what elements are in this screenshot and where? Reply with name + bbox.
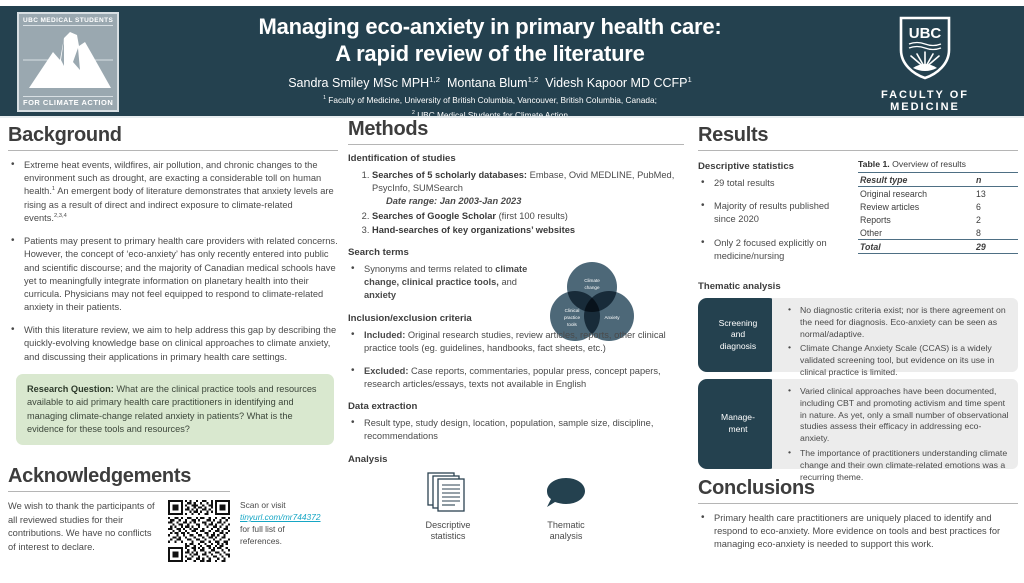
identification-item-rest: (first 100 results): [496, 211, 568, 221]
theme-bullet: Climate Change Anxiety Scale (CCAS) is a…: [788, 343, 1010, 378]
extraction-bullet: Result type, study design, location, pop…: [348, 417, 684, 443]
methods-heading: Methods: [348, 118, 684, 141]
author-list: Sandra Smiley MSc MPH1,2 Montana Blum1,2…: [140, 75, 840, 91]
qr-caption: Scan or visit tinyurl.com/mr744372 for f…: [240, 500, 316, 548]
criteria-included-label: Included:: [364, 330, 405, 340]
results-top-row: Descriptive statistics 29 total results …: [698, 159, 1018, 273]
column-methods: Methods Identification of studies Search…: [348, 118, 684, 543]
svg-text:tools: tools: [567, 322, 577, 327]
table-header-result-type: Result type: [858, 173, 962, 187]
acknowledgements-heading-rule: [8, 491, 230, 492]
identification-item: Searches of 5 scholarly databases: Embas…: [372, 169, 684, 209]
criteria-excluded-label: Excluded:: [364, 366, 408, 376]
mountain-icon: [23, 26, 113, 96]
author-1-sup: 1,2: [429, 75, 440, 84]
table-cell-label: Reports: [858, 213, 962, 226]
speech-bubble-icon: [543, 470, 589, 512]
descriptive-bullet: Only 2 focused explicitly on medicine/nu…: [698, 237, 850, 263]
research-question-box: Research Question: What are the clinical…: [16, 374, 334, 445]
identification-item: Hand-searches of key organizations’ webs…: [372, 224, 684, 237]
analysis-icon-row: Descriptive statistics Thematic analysis: [406, 470, 684, 544]
acknowledgements-row: We wish to thank the participants of all…: [8, 500, 338, 562]
analysis-label: Analysis: [348, 454, 684, 465]
title-line-1: Managing eco-anxiety in primary health c…: [140, 14, 840, 41]
criteria-excluded-text: Case reports, commentaries, popular pres…: [364, 366, 661, 389]
identification-list: Searches of 5 scholarly databases: Embas…: [352, 169, 684, 237]
author-3: Videsh Kapoor MD CCFP1: [545, 76, 692, 90]
svg-text:practice: practice: [564, 315, 581, 320]
results-heading-rule: [698, 150, 1018, 151]
background-heading-rule: [8, 150, 338, 151]
table-cell-value: 2: [962, 213, 1018, 226]
logo-top-text: UBC MEDICAL STUDENTS: [23, 17, 113, 26]
theme-tag-management: Manage-ment: [698, 379, 778, 469]
conclusions-bullet: Primary health care practitioners are un…: [698, 512, 1018, 552]
analysis-caption-descriptive: Descriptive statistics: [406, 520, 490, 544]
table-header-row: Result type n: [858, 173, 1018, 187]
results-heading: Results: [698, 124, 1018, 147]
svg-text:UBC: UBC: [909, 25, 942, 42]
affiliation-1: 1 Faculty of Medicine, University of Bri…: [140, 94, 840, 106]
table-row: Other 8: [858, 226, 1018, 240]
background-bullet: With this literature review, we aim to h…: [8, 324, 338, 364]
table-cell-value: 13: [962, 187, 1018, 201]
theme-body-management: Varied clinical approaches have been doc…: [772, 379, 1018, 469]
analysis-item-descriptive: Descriptive statistics: [406, 470, 490, 544]
citation-1: 1: [52, 186, 55, 192]
descriptive-statistics-block: Descriptive statistics 29 total results …: [698, 159, 850, 273]
table-caption: Table 1. Overview of results: [858, 159, 1018, 170]
qr-caption-before: Scan or visit: [240, 500, 286, 510]
criteria-item-included: Included: Original research studies, rev…: [348, 329, 684, 355]
descriptive-statistics-list: 29 total results Majority of results pub…: [698, 177, 850, 263]
author-2: Montana Blum1,2: [447, 76, 538, 90]
poster-title-block: Managing eco-anxiety in primary health c…: [140, 14, 840, 121]
background-heading: Background: [8, 124, 338, 147]
ubc-shield-icon: UBC: [895, 16, 955, 80]
poster-title: Managing eco-anxiety in primary health c…: [140, 14, 840, 68]
theme-management: Manage-ment Varied clinical approaches h…: [698, 379, 1018, 469]
theme-bullet: The importance of practitioners understa…: [788, 448, 1010, 483]
criteria-list: Included: Original research studies, rev…: [348, 329, 684, 392]
logo-bottom-text: FOR CLIMATE ACTION: [23, 96, 113, 107]
table-caption-bold: Table 1.: [858, 159, 890, 169]
background-bullet: Patients may present to primary health c…: [8, 235, 338, 314]
theme-bullet: No diagnostic criteria exist; nor is the…: [788, 305, 1010, 340]
analysis-item-thematic: Thematic analysis: [524, 470, 608, 544]
faculty-of-medicine-caption: FACULTY OF MEDICINE: [852, 89, 998, 113]
table-cell-value: 8: [962, 226, 1018, 240]
references-link[interactable]: tinyurl.com/mr744372: [240, 512, 321, 522]
conclusions-heading-rule: [698, 503, 1018, 504]
identification-item-bold: Hand-searches of key organizations’ webs…: [372, 225, 575, 235]
table-row: Reports 2: [858, 213, 1018, 226]
table-head: Result type n: [858, 173, 1018, 187]
title-line-2: A rapid review of the literature: [140, 41, 840, 68]
identification-item: Searches of Google Scholar (first 100 re…: [372, 210, 684, 223]
table-caption-rest: Overview of results: [890, 159, 966, 169]
qr-code-icon[interactable]: [168, 500, 230, 562]
table-cell-label: Other: [858, 226, 962, 240]
theme-bullet: Varied clinical approaches have been doc…: [788, 386, 1010, 445]
results-table: Result type n Original research 13 Revie…: [858, 172, 1018, 254]
search-terms-list: Synonyms and terms related to climate ch…: [348, 263, 548, 303]
affiliation-1-text: Faculty of Medicine, University of Briti…: [328, 95, 657, 105]
extraction-label: Data extraction: [348, 401, 684, 412]
table-cell-label: Original research: [858, 187, 962, 201]
venn-label-anxiety: Anxiety: [604, 315, 620, 320]
table-row: Review articles 6: [858, 200, 1018, 213]
descriptive-bullet: Majority of results published since 2020: [698, 200, 850, 226]
search-terms-bullet: Synonyms and terms related to climate ch…: [348, 263, 548, 303]
table-cell-label: Review articles: [858, 200, 962, 213]
affiliation-1-marker: 1: [323, 95, 326, 101]
acknowledgements-heading: Acknowledgements: [8, 465, 338, 488]
research-question-label: Research Question:: [27, 384, 114, 394]
search-terms-bold-2: anxiety: [364, 290, 396, 300]
venn-label-climate-change: Climate: [584, 278, 600, 283]
table-header-n: n: [962, 173, 1018, 187]
thematic-analysis-label: Thematic analysis: [698, 281, 1018, 292]
methods-heading-rule: [348, 144, 684, 145]
table-row: Original research 13: [858, 187, 1018, 201]
table-total-value: 29: [962, 240, 1018, 254]
table-cell-value: 6: [962, 200, 1018, 213]
author-2-sup: 1,2: [528, 75, 539, 84]
svg-text:change: change: [584, 285, 600, 290]
ubc-medical-students-climate-action-logo: UBC MEDICAL STUDENTS FOR CLIMATE ACTION: [17, 12, 119, 112]
acknowledgements-body: We wish to thank the participants of all…: [8, 500, 158, 554]
qr-caption-after: for full list of references.: [240, 524, 285, 546]
citation-234: 2,3,4: [54, 213, 67, 219]
ubc-faculty-of-medicine-logo: UBC FACULTY OF MEDICINE: [852, 16, 998, 113]
poster-canvas: UBC MEDICAL STUDENTS FOR CLIMATE ACTION …: [0, 6, 1024, 583]
theme-tag-screening: Screeninganddiagnosis: [698, 298, 778, 372]
descriptive-statistics-label: Descriptive statistics: [698, 161, 850, 172]
identification-label: Identification of studies: [348, 153, 684, 164]
conclusions-list: Primary health care practitioners are un…: [698, 512, 1018, 552]
identification-item-bold: Searches of Google Scholar: [372, 211, 496, 221]
criteria-item-excluded: Excluded: Case reports, commentaries, po…: [348, 365, 684, 391]
analysis-caption-thematic: Thematic analysis: [524, 520, 608, 544]
poster-header: UBC MEDICAL STUDENTS FOR CLIMATE ACTION …: [0, 6, 1024, 118]
table-total-label: Total: [858, 240, 962, 254]
author-3-sup: 1: [687, 75, 691, 84]
background-bullet-list: Extreme heat events, wildfires, air poll…: [8, 159, 338, 364]
descriptive-bullet: 29 total results: [698, 177, 850, 190]
theme-screening-and-diagnosis: Screeninganddiagnosis No diagnostic crit…: [698, 298, 1018, 372]
results-table-block: Table 1. Overview of results Result type…: [858, 159, 1018, 273]
date-range: Date range: Jan 2003-Jan 2023: [372, 195, 684, 208]
criteria-included-text: Original research studies, review articl…: [364, 330, 666, 353]
theme-body-screening: No diagnostic criteria exist; nor is the…: [772, 298, 1018, 372]
column-results: Results Descriptive statistics 29 total …: [698, 118, 1018, 562]
venn-label-clinical-practice-tools: Clinical: [565, 308, 580, 313]
extraction-list: Result type, study design, location, pop…: [348, 417, 684, 443]
table-body: Original research 13 Review articles 6 R…: [858, 187, 1018, 254]
author-1: Sandra Smiley MSc MPH1,2: [288, 76, 440, 90]
search-terms-pre: Synonyms and terms related to: [364, 264, 495, 274]
documents-stack-icon: [425, 470, 471, 512]
identification-item-bold: Searches of 5 scholarly databases:: [372, 170, 527, 180]
table-total-row: Total 29: [858, 240, 1018, 254]
search-terms-mid: and: [499, 277, 517, 287]
background-bullet: Extreme heat events, wildfires, air poll…: [8, 159, 338, 225]
column-background: Background Extreme heat events, wildfire…: [8, 118, 338, 562]
